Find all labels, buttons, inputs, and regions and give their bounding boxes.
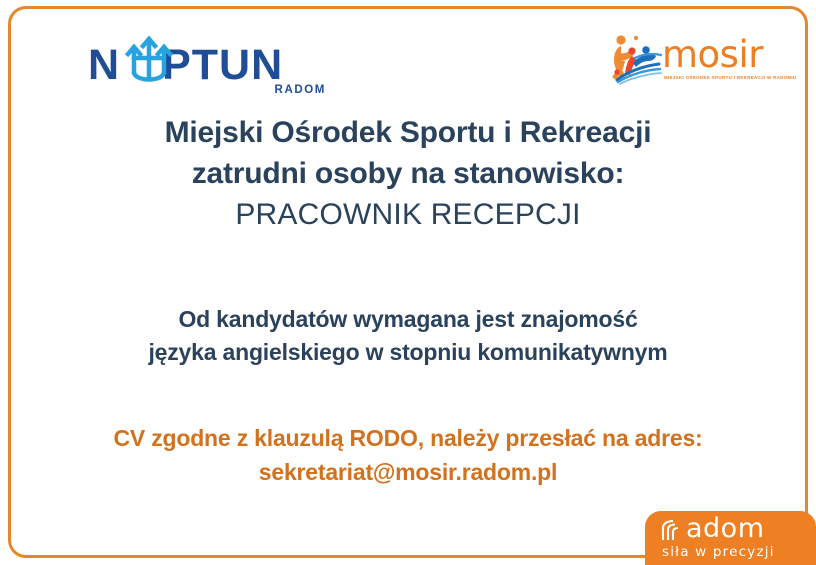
headline-line-2: zatrudni osoby na stanowisko: bbox=[0, 153, 816, 194]
radom-wordmark: adom bbox=[686, 515, 765, 542]
headline-line-1: Miejski Ośrodek Sportu i Rekreacji bbox=[0, 112, 816, 153]
radom-city-logo: adom siła w precyzji bbox=[645, 511, 816, 565]
job-advert-poster: NPTUN RADOM bbox=[0, 0, 816, 565]
requirement-line-1: Od kandydatów wymagana jest znajomość bbox=[0, 303, 816, 336]
requirement-line-2: języka angielskiego w stopniu komunikaty… bbox=[0, 336, 816, 369]
mosir-logo: mosir MIEJSKI OŚRODEK SPORTU I REKREACJI… bbox=[605, 28, 770, 90]
poster-header: NPTUN RADOM bbox=[0, 0, 816, 105]
running-figures-icon bbox=[605, 28, 663, 86]
contact-instruction: CV zgodne z klauzulą RODO, należy przesł… bbox=[0, 421, 816, 455]
neptun-wordmark-left: N bbox=[88, 41, 120, 89]
radom-r-arcs-icon bbox=[661, 519, 687, 541]
contact-block: CV zgodne z klauzulą RODO, należy przesł… bbox=[0, 421, 816, 489]
headline-block: Miejski Ośrodek Sportu i Rekreacji zatru… bbox=[0, 112, 816, 236]
requirements-block: Od kandydatów wymagana jest znajomość ję… bbox=[0, 303, 816, 369]
neptun-logo: NPTUN RADOM bbox=[88, 28, 328, 96]
neptun-logo-subtitle: RADOM bbox=[275, 84, 326, 96]
contact-email[interactable]: sekretariat@mosir.radom.pl bbox=[0, 455, 816, 489]
trident-icon bbox=[124, 28, 186, 90]
job-position-title: PRACOWNIK RECEPCJI bbox=[0, 194, 816, 236]
radom-slogan: siła w precyzji bbox=[662, 544, 775, 560]
mosir-wordmark: mosir bbox=[662, 36, 763, 73]
mosir-tagline: MIEJSKI OŚRODEK SPORTU I REKREACJI W RAD… bbox=[664, 75, 797, 80]
